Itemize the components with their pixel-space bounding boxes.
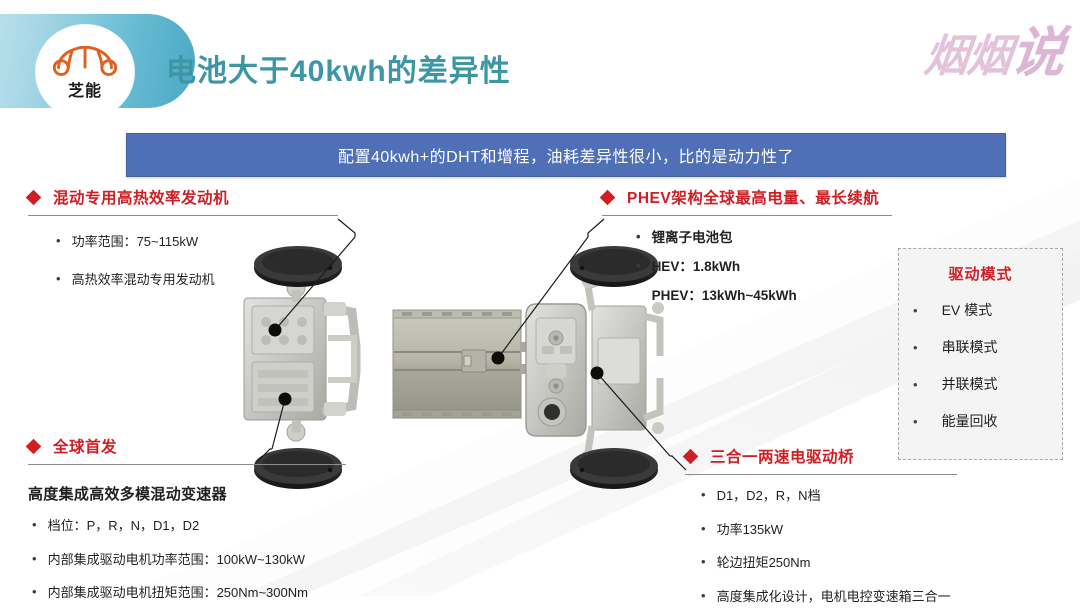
slide-canvas: 芝能 电池大于40kwh的差异性 烟烟说 配置40kwh+的DHT和增程，油耗差… bbox=[0, 0, 1080, 610]
bullet-icon: • bbox=[913, 303, 918, 318]
annotation-global-first: 全球首发 高度集成高效多模混动变速器 •档位：P，R，N，D1，D2 •内部集成… bbox=[28, 435, 388, 610]
list-item-text: 能量回收 bbox=[942, 411, 998, 431]
annotation-edrive-axle-rule bbox=[685, 474, 957, 475]
list-item: •轮边扭矩250Nm bbox=[685, 555, 1075, 571]
list-item-text: 功率135kW bbox=[717, 522, 783, 538]
drive-mode-list: •EV 模式 •串联模式 •并联模式 •能量回收 bbox=[899, 300, 1062, 431]
list-item-text: D1，D2，R，N档 bbox=[717, 488, 821, 504]
list-item: •锂离子电池包 bbox=[602, 230, 950, 246]
list-item: •高度集成化设计，电机电控变速箱三合一 bbox=[685, 589, 1075, 605]
diamond-marker-icon bbox=[26, 189, 42, 205]
bullet-icon: • bbox=[913, 377, 918, 392]
annotation-phev-title: PHEV架构全球最高电量、最长续航 bbox=[627, 186, 879, 208]
bullet-icon: • bbox=[701, 522, 706, 537]
list-item-text: 档位：P，R，N，D1，D2 bbox=[48, 518, 200, 534]
list-item: •并联模式 bbox=[899, 374, 1062, 394]
annotation-global-first-head: 全球首发 bbox=[28, 435, 388, 457]
annotation-engine-title: 混动专用高热效率发动机 bbox=[53, 186, 229, 208]
bullet-icon: • bbox=[32, 585, 37, 600]
annotation-global-first-list: •档位：P，R，N，D1，D2 •内部集成驱动电机功率范围：100kW~130k… bbox=[28, 518, 388, 601]
callout-dot-axle bbox=[591, 367, 604, 380]
annotation-edrive-axle: 三合一两速电驱动桥 •D1，D2，R，N档 •功率135kW •轮边扭矩250N… bbox=[685, 445, 1075, 610]
bullet-icon: • bbox=[32, 552, 37, 567]
bullet-icon: • bbox=[56, 234, 61, 249]
callout-dot-battery bbox=[492, 352, 505, 365]
annotation-global-first-subtitle: 高度集成高效多模混动变速器 bbox=[28, 483, 388, 504]
list-item: •内部集成驱动电机功率范围：100kW~130kW bbox=[28, 552, 388, 568]
list-item: •串联模式 bbox=[899, 337, 1062, 357]
list-item: •高热效率混动专用发动机 bbox=[28, 272, 358, 288]
list-item-text: 轮边扭矩250Nm bbox=[717, 555, 811, 571]
callout-dot-engine bbox=[269, 324, 282, 337]
list-item: •能量回收 bbox=[899, 411, 1062, 431]
bullet-icon: • bbox=[913, 340, 918, 355]
list-item: •功率135kW bbox=[685, 522, 1075, 538]
drive-mode-box: 驱动模式 •EV 模式 •串联模式 •并联模式 •能量回收 bbox=[898, 248, 1063, 460]
list-item: •D1，D2，R，N档 bbox=[685, 488, 1075, 504]
annotation-global-first-title: 全球首发 bbox=[53, 435, 117, 457]
bullet-icon: • bbox=[56, 272, 61, 287]
diamond-marker-icon bbox=[683, 448, 699, 464]
list-item-text: 高度集成化设计，电机电控变速箱三合一 bbox=[717, 589, 951, 605]
list-item-text: 内部集成驱动电机功率范围：100kW~130kW bbox=[48, 552, 306, 568]
annotation-engine-rule bbox=[28, 215, 338, 216]
annotation-phev-head: PHEV架构全球最高电量、最长续航 bbox=[602, 186, 950, 208]
list-item-text: PHEV：13kWh~45kWh bbox=[652, 288, 797, 304]
bullet-icon: • bbox=[701, 589, 706, 604]
bullet-icon: • bbox=[636, 259, 641, 274]
bullet-icon: • bbox=[32, 518, 37, 533]
drive-mode-title: 驱动模式 bbox=[899, 263, 1062, 284]
list-item: •功率范围：75~115kW bbox=[28, 234, 358, 250]
list-item-text: 内部集成驱动电机扭矩范围：250Nm~300Nm bbox=[48, 585, 308, 601]
diamond-marker-icon bbox=[600, 189, 616, 205]
annotation-edrive-axle-title: 三合一两速电驱动桥 bbox=[710, 445, 854, 467]
diamond-marker-icon bbox=[26, 438, 42, 454]
annotation-engine-head: 混动专用高热效率发动机 bbox=[28, 186, 358, 208]
annotation-phev-rule bbox=[602, 215, 892, 216]
bullet-icon: • bbox=[636, 230, 641, 245]
list-item-text: 并联模式 bbox=[942, 374, 998, 394]
list-item-text: 功率范围：75~115kW bbox=[72, 234, 199, 250]
list-item-text: EV 模式 bbox=[942, 300, 993, 320]
list-item-text: HEV：1.8kWh bbox=[652, 259, 741, 275]
list-item: •EV 模式 bbox=[899, 300, 1062, 320]
list-item: •档位：P，R，N，D1，D2 bbox=[28, 518, 388, 534]
annotation-engine-list: •功率范围：75~115kW •高热效率混动专用发动机 bbox=[28, 234, 358, 287]
bullet-icon: • bbox=[701, 555, 706, 570]
list-item: •内部集成驱动电机扭矩范围：250Nm~300Nm bbox=[28, 585, 388, 601]
list-item-text: 高热效率混动专用发动机 bbox=[72, 272, 215, 288]
annotation-global-first-rule bbox=[28, 464, 346, 465]
list-item-text: 锂离子电池包 bbox=[652, 230, 733, 246]
annotation-engine: 混动专用高热效率发动机 •功率范围：75~115kW •高热效率混动专用发动机 bbox=[28, 186, 358, 309]
callout-dot-transmission bbox=[279, 393, 292, 406]
list-item-text: 串联模式 bbox=[942, 337, 998, 357]
annotation-edrive-axle-list: •D1，D2，R，N档 •功率135kW •轮边扭矩250Nm •高度集成化设计… bbox=[685, 488, 1075, 604]
bullet-icon: • bbox=[913, 414, 918, 429]
bullet-icon: • bbox=[701, 488, 706, 503]
